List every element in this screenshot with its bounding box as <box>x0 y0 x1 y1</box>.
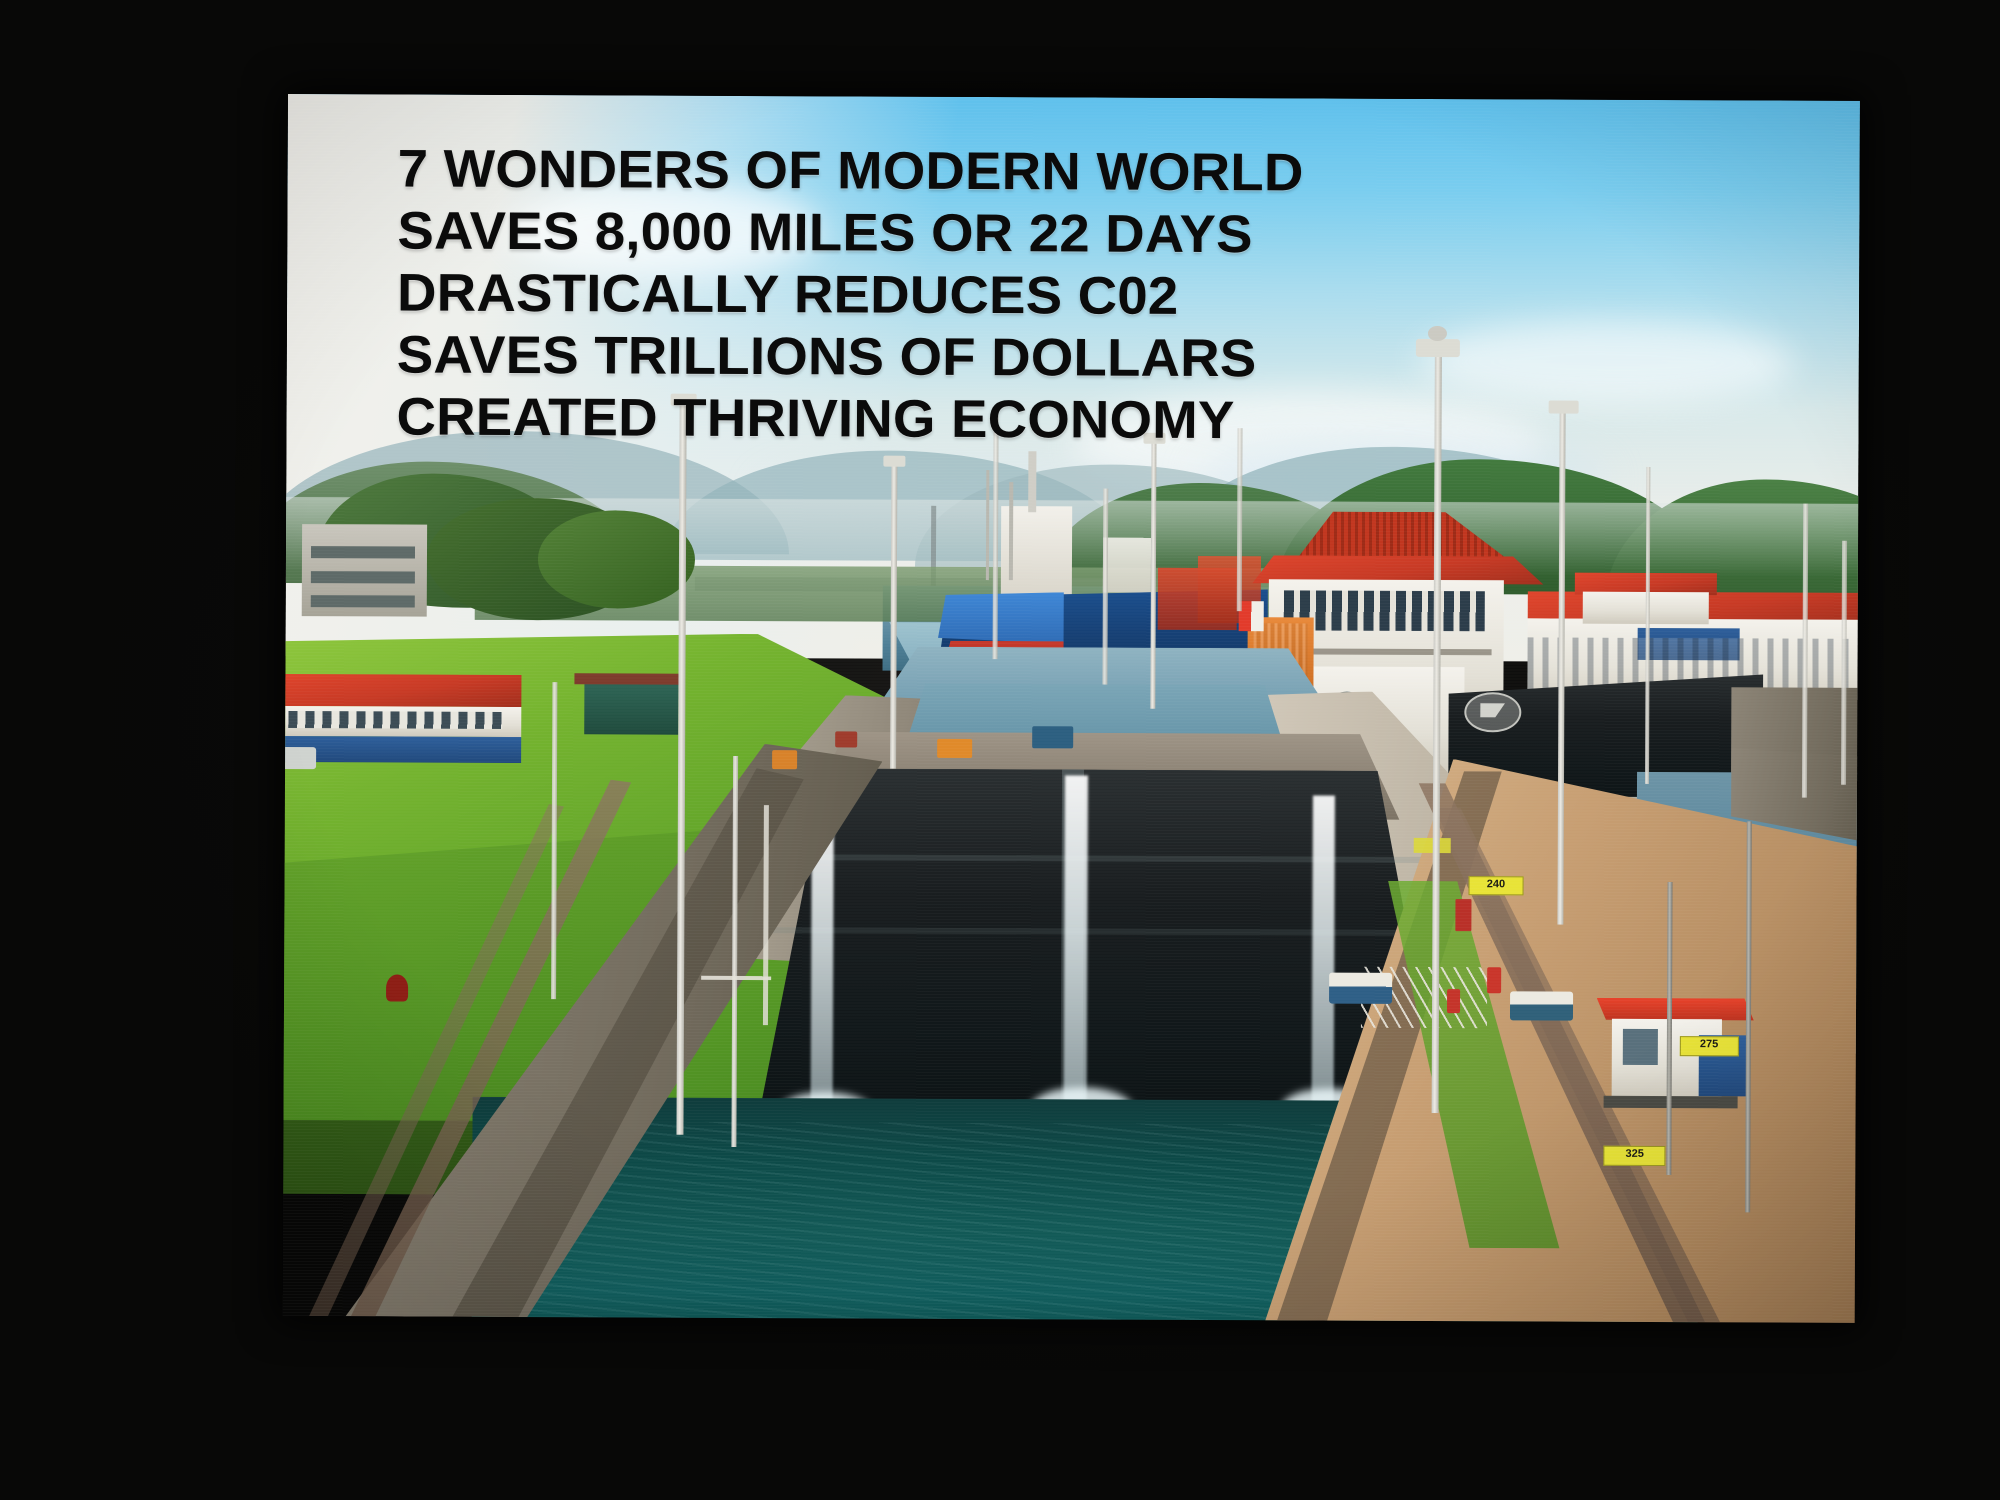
parked-vehicle <box>283 746 317 768</box>
equipment-box <box>1510 991 1573 1021</box>
green-shed <box>584 679 679 734</box>
ship-mast <box>1028 452 1036 513</box>
building-window-row <box>311 546 415 559</box>
distance-marker-325: 325 <box>1604 1146 1666 1167</box>
worker-figure <box>1447 989 1460 1013</box>
headline-line-1: 7 WONDERS OF MODERN WORLD <box>398 138 1823 206</box>
ship-deckhouse <box>1103 537 1150 592</box>
dock-building-base <box>283 735 521 763</box>
red-marker <box>386 974 408 1001</box>
ship-antenna <box>1009 482 1013 580</box>
worker-figure <box>1487 967 1501 994</box>
headline-line-5: CREATED THRIVING ECONOMY <box>396 386 1821 454</box>
building-window-row <box>311 595 415 608</box>
headline-block: 7 WONDERS OF MODERN WORLD SAVES 8,000 MI… <box>396 138 1781 454</box>
orange-equipment <box>937 738 972 758</box>
orange-equipment <box>772 750 797 770</box>
pipe-crossbar <box>701 976 772 981</box>
headline-line-3: DRASTICALLY REDUCES C02 <box>397 262 1822 330</box>
guard-shed-roof <box>1597 998 1754 1021</box>
signal-post-red <box>1455 900 1471 932</box>
headline-line-4: SAVES TRILLIONS OF DOLLARS <box>397 324 1822 392</box>
flag <box>1238 602 1263 631</box>
canal-photograph: 240 275 325 <box>283 94 1860 1323</box>
lamp-head <box>884 456 906 467</box>
projection-backdrop: 240 275 325 <box>0 0 2000 1500</box>
distance-marker-240: 240 <box>1468 876 1524 895</box>
guard-shed-window <box>1623 1029 1658 1066</box>
control-tower-windows <box>1284 591 1485 631</box>
ship-antenna <box>985 470 989 580</box>
blue-equipment <box>1032 727 1073 749</box>
red-equipment <box>835 732 857 748</box>
tree-cluster <box>537 511 695 609</box>
building-window-row <box>311 571 415 584</box>
headline-line-2: SAVES 8,000 MILES OR 22 DAYS <box>397 200 1822 268</box>
waterfall-right <box>1312 795 1335 1113</box>
light-pole <box>1103 489 1109 685</box>
pipe-vertical <box>763 805 769 1025</box>
green-shed-roof <box>575 673 685 684</box>
waterfall-center <box>1063 776 1088 1118</box>
equipment-box <box>1329 972 1392 1004</box>
building-windows <box>288 711 502 729</box>
cargo-ship-bow <box>938 592 1064 644</box>
distance-marker-275: 275 <box>1680 1036 1739 1057</box>
light-pole <box>1237 428 1243 611</box>
dock-building-roof <box>283 674 522 707</box>
